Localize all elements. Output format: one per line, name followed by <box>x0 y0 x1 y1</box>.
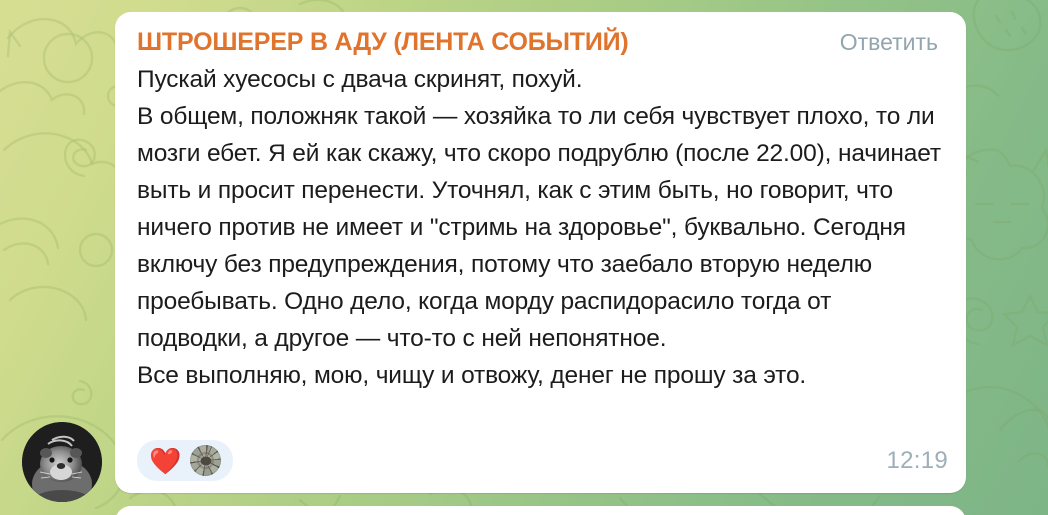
heart-icon[interactable]: ❤️ <box>149 446 181 476</box>
next-message-bubble[interactable] <box>115 506 966 515</box>
chat-wallpaper: ШТРОШЕРЕР В АДУ (ЛЕНТА СОБЫТИЙ) Ответить… <box>0 0 1048 515</box>
avatar[interactable] <box>22 422 102 502</box>
message-timestamp: 12:19 <box>886 447 948 475</box>
reply-button[interactable]: Ответить <box>840 29 944 55</box>
bubble-header: ШТРОШЕРЕР В АДУ (ЛЕНТА СОБЫТИЙ) Ответить <box>137 28 944 57</box>
reaction-pill[interactable]: ❤️ <box>137 440 233 481</box>
reactions-row[interactable]: ❤️ <box>137 440 233 481</box>
spider-icon[interactable] <box>190 445 221 476</box>
bubble-footer: ❤️ 12:19 <box>137 440 948 481</box>
message-text: Пускай хуесосы с двача скринят, похуй. В… <box>137 61 944 394</box>
message-bubble[interactable]: ШТРОШЕРЕР В АДУ (ЛЕНТА СОБЫТИЙ) Ответить… <box>115 12 966 493</box>
channel-title: ШТРОШЕРЕР В АДУ (ЛЕНТА СОБЫТИЙ) <box>137 28 629 57</box>
